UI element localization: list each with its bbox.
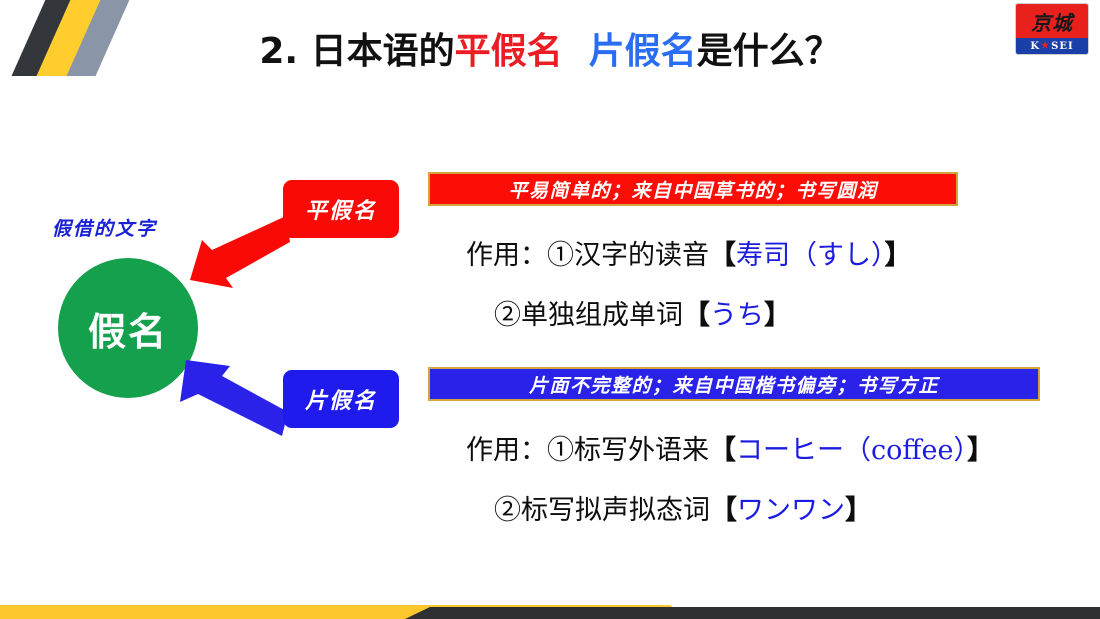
hiragana-usage-line-2: ②单独组成单词【うち】 [494,293,791,332]
katakana-usage-1-bracket-close: 】 [967,435,994,466]
hiragana-usage-1-bracket-open: 【 [709,240,736,271]
hiragana-usage-2-bracket-close: 】 [764,300,791,331]
katakana-usage-2-prefix: ②标写拟声拟态词 [494,495,710,526]
kana-circle: 假名 [58,258,198,398]
chip-hiragana: 平假名 [283,180,399,238]
hiragana-usage-1-prefix: 作用：①汉字的读音 [466,240,709,271]
katakana-usage-line-1: 作用：①标写外语来【コーヒー（coffee）】 [466,428,994,467]
katakana-usage-2-example: ワンワン [737,495,845,526]
banner-katakana: 片面不完整的；来自中国楷书偏旁；书写方正 [428,367,1040,401]
katakana-usage-1-prefix: 作用：①标写外语来 [466,435,709,466]
slide-canvas: 京城 K ★ SEI 2. 日本语的平假名片假名是什么？ 假借的文字 假名 平假… [0,0,1100,619]
chip-katakana: 片假名 [283,370,399,428]
katakana-usage-2-bracket-open: 【 [710,495,737,526]
katakana-usage-1-example: コーヒー（coffee） [736,435,967,466]
bottom-ribbon-dark [405,607,1100,619]
page-title: 2. 日本语的平假名片假名是什么？ [0,22,1100,74]
banner-hiragana-text: 平易简单的；来自中国草书的；书写圆润 [508,176,877,203]
title-hiragana-highlight: 平假名 [455,31,563,72]
hiragana-usage-2-example: うち [710,300,764,331]
kana-circle-label: 假名 [88,301,168,356]
title-prefix: 2. 日本语的 [259,31,454,72]
blue-arrow-icon [178,358,288,436]
hiragana-usage-line-1: 作用：①汉字的读音【寿司（すし）】 [466,233,912,272]
hiragana-usage-2-bracket-open: 【 [683,300,710,331]
title-suffix: 是什么？ [697,31,841,72]
hiragana-usage-1-example: 寿司（すし） [736,240,885,271]
red-arrow-icon [186,212,290,288]
kana-caption-label: 假借的文字 [52,214,157,241]
bottom-ribbon-decoration [0,577,1100,619]
hiragana-usage-2-prefix: ②单独组成单词 [494,300,683,331]
chip-hiragana-label: 平假名 [305,193,377,225]
hiragana-usage-1-bracket-close: 】 [885,240,912,271]
katakana-usage-1-bracket-open: 【 [709,435,736,466]
katakana-usage-2-bracket-close: 】 [845,495,872,526]
banner-hiragana: 平易简单的；来自中国草书的；书写圆润 [428,172,958,206]
katakana-usage-line-2: ②标写拟声拟态词【ワンワン】 [494,488,872,527]
banner-katakana-text: 片面不完整的；来自中国楷书偏旁；书写方正 [529,371,939,398]
title-katakana-highlight: 片假名 [589,31,697,72]
chip-katakana-label: 片假名 [305,383,377,415]
